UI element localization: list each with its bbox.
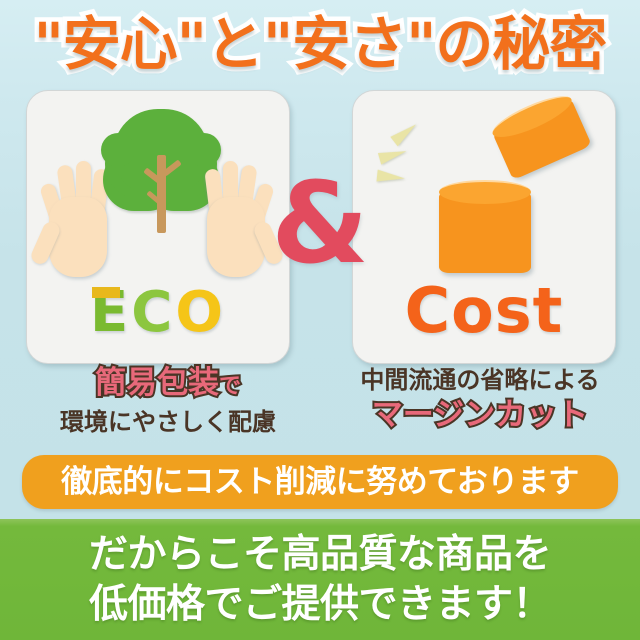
eco-letter-o: O xyxy=(175,280,226,345)
page-title: "安心"と"安さ"の秘密 xyxy=(0,8,640,80)
footer-message: だからこそ高品質な商品を 低価格でご提供できます！ xyxy=(0,519,640,640)
cost-reduction-banner-text: 徹底的にコスト削減に努めております xyxy=(22,455,618,509)
cost-caption-sub: 中間流通の省略による xyxy=(330,364,630,396)
cost-caption: 中間流通の省略による マージンカット xyxy=(330,364,630,434)
eco-wordmark: ECO xyxy=(27,283,289,343)
impact-spark-icon xyxy=(390,120,419,147)
eco-caption-main-text: 簡易包装 xyxy=(95,365,219,401)
promo-banner: "安心"と"安さ"の秘密 ECO & xyxy=(0,0,640,640)
eco-caption: 簡易包装で 環境にやさしく配慮 xyxy=(18,364,318,438)
footer-line-1: だからこそ高品質な商品を xyxy=(0,531,640,579)
eco-letter-c: C xyxy=(131,280,175,345)
eco-caption-sub: 環境にやさしく配慮 xyxy=(18,406,318,438)
eco-caption-main: 簡易包装で xyxy=(18,364,318,406)
footer-line-2: 低価格でご提供できます！ xyxy=(0,581,640,629)
eco-letter-e: E xyxy=(90,283,131,343)
cost-caption-main: マージンカット xyxy=(330,396,630,434)
cost-wordmark: Cost xyxy=(353,277,615,345)
cost-reduction-banner: 徹底的にコスト削減に努めております xyxy=(22,455,618,509)
ampersand-connector: & xyxy=(0,168,640,280)
eco-caption-suffix: で xyxy=(219,374,241,399)
impact-spark-icon xyxy=(378,145,408,164)
